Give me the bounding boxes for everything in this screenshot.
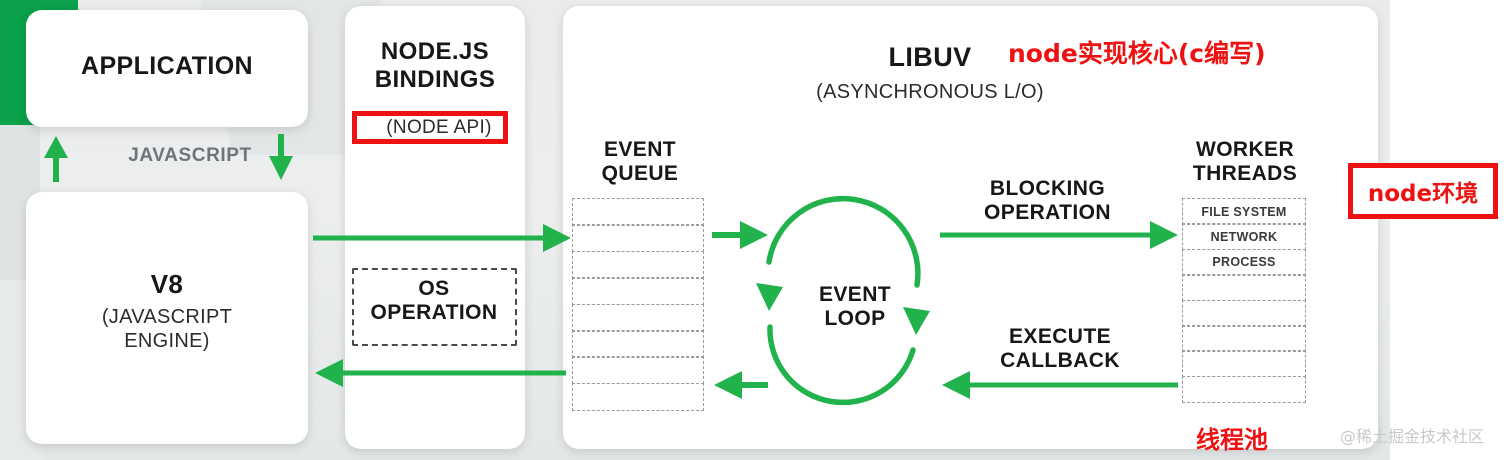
event-queue-slot-7: [572, 383, 704, 411]
nodejs-bindings-title: NODE.JS BINDINGS: [345, 38, 525, 93]
worker-thread-slot-4: [1182, 300, 1306, 327]
worker-thread-slot-5: [1182, 325, 1306, 352]
watermark-text: @稀土掘金技术社区: [1340, 423, 1510, 447]
v8-title: V8: [26, 270, 308, 300]
annotation-thread-pool: 线程池: [1196, 420, 1306, 455]
v8-subtitle-line2: ENGINE): [124, 330, 209, 352]
os-operation-line1: OS: [418, 277, 449, 300]
event-queue-label: EVENT QUEUE: [565, 138, 715, 186]
worker-threads-line2: THREADS: [1193, 162, 1297, 185]
event-loop-label: EVENT LOOP: [790, 283, 920, 331]
annotation-node-environment-text: node环境: [1368, 174, 1478, 208]
event-queue-slot-0: [572, 198, 704, 226]
event-loop-line1: EVENT: [819, 283, 891, 306]
event-queue-slots: [572, 198, 704, 409]
event-queue-slot-4: [572, 304, 704, 332]
worker-thread-slot-2: PROCESS: [1182, 249, 1306, 276]
node-api-label: (NODE API): [379, 114, 499, 143]
application-title: APPLICATION: [26, 52, 308, 81]
javascript-label: JAVASCRIPT: [95, 145, 285, 168]
execute-callback-label: EXECUTE CALLBACK: [980, 325, 1140, 373]
os-operation-line2: OPERATION: [371, 301, 498, 324]
bindings-title-line2: BINDINGS: [375, 66, 496, 93]
worker-thread-slot-6: [1182, 350, 1306, 377]
event-loop-line2: LOOP: [824, 307, 885, 330]
annotation-node-core: node实现核心(c编写): [1008, 34, 1288, 70]
annotation-node-environment-box: node环境: [1348, 163, 1498, 219]
event-queue-line2: QUEUE: [602, 162, 679, 185]
event-queue-slot-3: [572, 277, 704, 305]
blocking-line2: OPERATION: [984, 201, 1111, 224]
libuv-subtitle: (ASYNCHRONOUS L/O): [760, 80, 1100, 104]
event-queue-line1: EVENT: [604, 138, 676, 161]
worker-thread-slot-0: FILE SYSTEM: [1182, 198, 1306, 225]
event-queue-slot-1: [572, 224, 704, 252]
worker-threads-label: WORKER THREADS: [1175, 138, 1315, 186]
blocking-operation-label: BLOCKING OPERATION: [960, 177, 1135, 225]
event-queue-slot-5: [572, 330, 704, 358]
v8-subtitle-line1: (JAVASCRIPT: [102, 306, 232, 328]
worker-thread-slot-7: [1182, 376, 1306, 403]
event-queue-slot-2: [572, 251, 704, 279]
blocking-line1: BLOCKING: [990, 177, 1105, 200]
diagram-canvas: APPLICATION V8 (JAVASCRIPT ENGINE) NODE.…: [0, 0, 1512, 460]
bindings-title-line1: NODE.JS: [381, 38, 489, 65]
execute-line1: EXECUTE: [1009, 325, 1111, 348]
os-operation-label: OS OPERATION: [355, 277, 513, 325]
worker-thread-slots: FILE SYSTEMNETWORKPROCESS: [1182, 198, 1306, 401]
worker-thread-slot-1: NETWORK: [1182, 223, 1306, 250]
event-queue-slot-6: [572, 356, 704, 384]
worker-threads-line1: WORKER: [1196, 138, 1294, 161]
v8-subtitle: (JAVASCRIPT ENGINE): [26, 305, 308, 353]
execute-line2: CALLBACK: [1000, 349, 1120, 372]
background-plate-right: [1390, 0, 1512, 460]
worker-thread-slot-3: [1182, 274, 1306, 301]
